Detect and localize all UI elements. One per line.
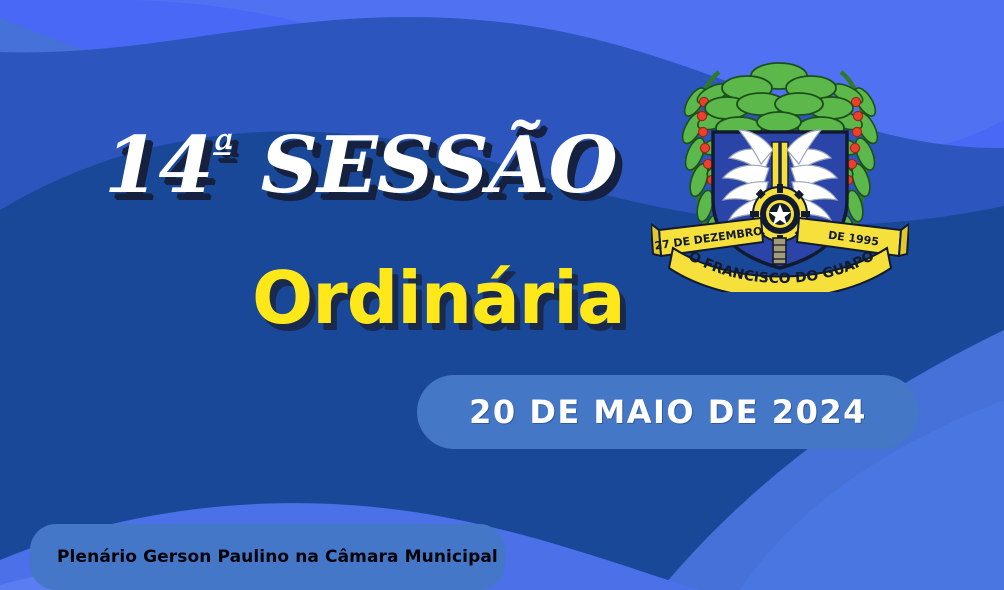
date-badge: 20 DE MAIO DE 2024 (417, 375, 919, 449)
venue-badge: Plenário Gerson Paulino na Câmara Munici… (30, 524, 505, 590)
poster-canvas: 27 DE DEZEMBRO DE 1995 SÃO FRANCISCO DO … (0, 0, 1004, 590)
crest-shield (713, 130, 847, 268)
venue-badge-text: Plenário Gerson Paulino na Câmara Munici… (30, 547, 498, 567)
coat-of-arms-emblem: 27 DE DEZEMBRO DE 1995 SÃO FRANCISCO DO … (651, 42, 909, 292)
coat-of-arms-svg: 27 DE DEZEMBRO DE 1995 SÃO FRANCISCO DO … (651, 42, 909, 292)
date-badge-text: 20 DE MAIO DE 2024 (469, 393, 867, 431)
